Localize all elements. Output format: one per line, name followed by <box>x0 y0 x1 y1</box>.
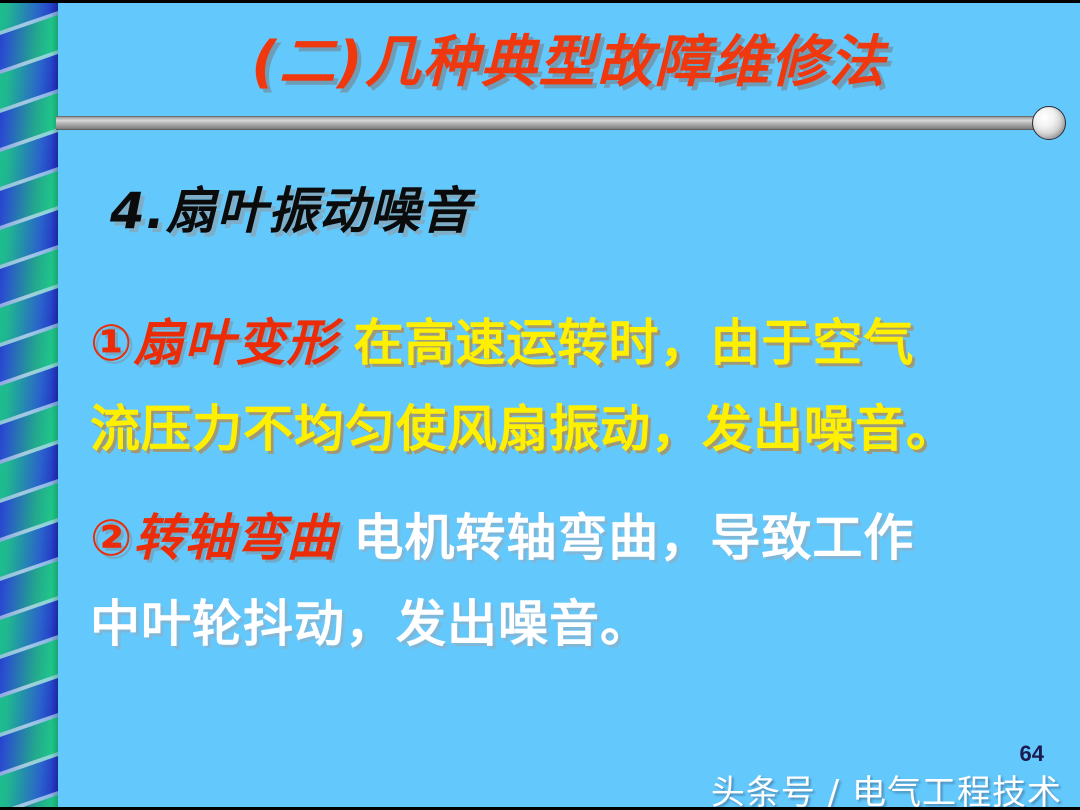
page-number: 64 <box>1020 741 1044 767</box>
title-row: (二)几种典型故障维修法 <box>58 17 1080 98</box>
paragraph-1-text-2: 流压力不均匀使风扇振动，发出噪音。 <box>90 400 957 458</box>
decorative-ribbon-sidebar <box>0 3 58 810</box>
paragraph-2-text-2: 中叶轮抖动，发出噪音。 <box>90 595 651 653</box>
pin-bead-icon <box>1032 106 1066 140</box>
slide-body: 4.扇叶振动噪音 ①扇叶变形在高速运转时，由于空气 流压力不均匀使风扇振动，发出… <box>58 153 1080 753</box>
paragraph-1-line-1: ①扇叶变形在高速运转时，由于空气 <box>90 300 1080 386</box>
section-heading: 4.扇叶振动噪音 <box>110 171 472 243</box>
paragraph-1-line-2: 流压力不均匀使风扇振动，发出噪音。 <box>90 386 1080 472</box>
paragraph-2-text-1: 电机转轴弯曲，导致工作 <box>353 509 914 567</box>
presentation-slide: (二)几种典型故障维修法 4.扇叶振动噪音 ①扇叶变形在高速运转时，由于空气 流… <box>0 0 1080 810</box>
divider-bar <box>56 116 1041 130</box>
paragraph-1-text-1: 在高速运转时，由于空气 <box>353 314 914 372</box>
paragraph-2-line-1: ②转轴弯曲电机转轴弯曲，导致工作 <box>90 495 1080 581</box>
paragraph-1-marker: ①扇叶变形 <box>90 314 337 372</box>
page-title: (二)几种典型故障维修法 <box>251 17 886 98</box>
watermark: 头条号 / 电气工程技术 <box>711 765 1062 810</box>
paragraph-1: ①扇叶变形在高速运转时，由于空气 流压力不均匀使风扇振动，发出噪音。 <box>90 300 1080 472</box>
paragraph-2-marker: ②转轴弯曲 <box>90 509 337 567</box>
paragraph-2-line-2: 中叶轮抖动，发出噪音。 <box>90 581 1080 667</box>
paragraph-2: ②转轴弯曲电机转轴弯曲，导致工作 中叶轮抖动，发出噪音。 <box>90 495 1080 667</box>
